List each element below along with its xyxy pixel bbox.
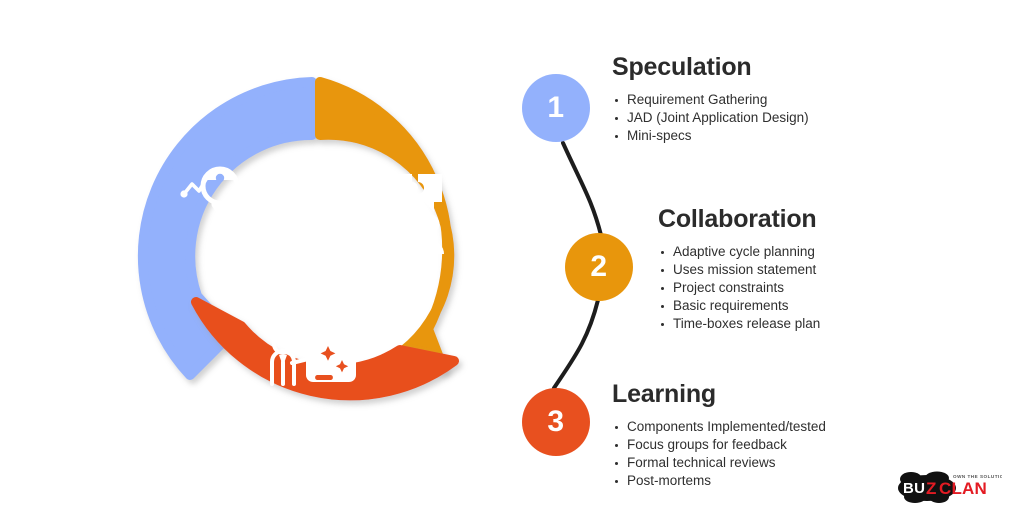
step-number-2: 2 — [590, 252, 607, 282]
step-list-collaboration: Adaptive cycle planning Uses mission sta… — [658, 243, 820, 334]
step-list-learning: Components Implemented/tested Focus grou… — [612, 418, 826, 491]
list-item: Basic requirements — [658, 297, 820, 315]
list-item: Formal technical reviews — [612, 454, 826, 472]
step-badge-3[interactable]: 3 — [522, 388, 590, 456]
list-item: Post-mortems — [612, 472, 826, 490]
list-item: Adaptive cycle planning — [658, 243, 820, 261]
cycle-hub — [253, 193, 379, 319]
two-people-puzzle-icon — [386, 174, 444, 254]
step-badge-1[interactable]: 1 — [522, 74, 590, 142]
list-item: Time-boxes release plan — [658, 315, 820, 333]
logo-tagline: OWN THE SOLUTION — [953, 474, 1002, 479]
logo-text-clan: CLAN — [939, 479, 987, 498]
step-number-3: 3 — [547, 407, 564, 437]
step-title-speculation: Speculation — [612, 54, 809, 82]
list-item: JAD (Joint Application Design) — [612, 109, 809, 127]
step-title-collaboration: Collaboration — [658, 206, 820, 234]
step-badge-2[interactable]: 2 — [565, 233, 633, 301]
logo-text-z: Z — [926, 479, 936, 498]
step-number-1: 1 — [547, 93, 564, 123]
step-title-learning: Learning — [612, 381, 826, 409]
connector-1-to-2 — [563, 143, 601, 235]
list-item: Requirement Gathering — [612, 91, 809, 109]
presenter-whiteboard-icon — [272, 334, 356, 384]
list-item: Uses mission statement — [658, 261, 820, 279]
steps-panel: 1 Speculation Requirement Gathering JAD … — [506, 0, 1024, 529]
list-item: Focus groups for feedback — [612, 436, 826, 454]
list-item: Project constraints — [658, 279, 820, 297]
list-item: Mini-specs — [612, 127, 809, 145]
cycle-diagram — [128, 68, 504, 444]
step-list-speculation: Requirement Gathering JAD (Joint Applica… — [612, 91, 809, 146]
brand-logo[interactable]: BU Z CLAN OWN THE SOLUTION — [897, 466, 1002, 506]
connector-2-to-3 — [554, 300, 598, 388]
list-item: Components Implemented/tested — [612, 418, 826, 436]
logo-text-bu: BU — [903, 480, 925, 497]
slide-canvas: 1 Speculation Requirement Gathering JAD … — [0, 0, 1024, 529]
